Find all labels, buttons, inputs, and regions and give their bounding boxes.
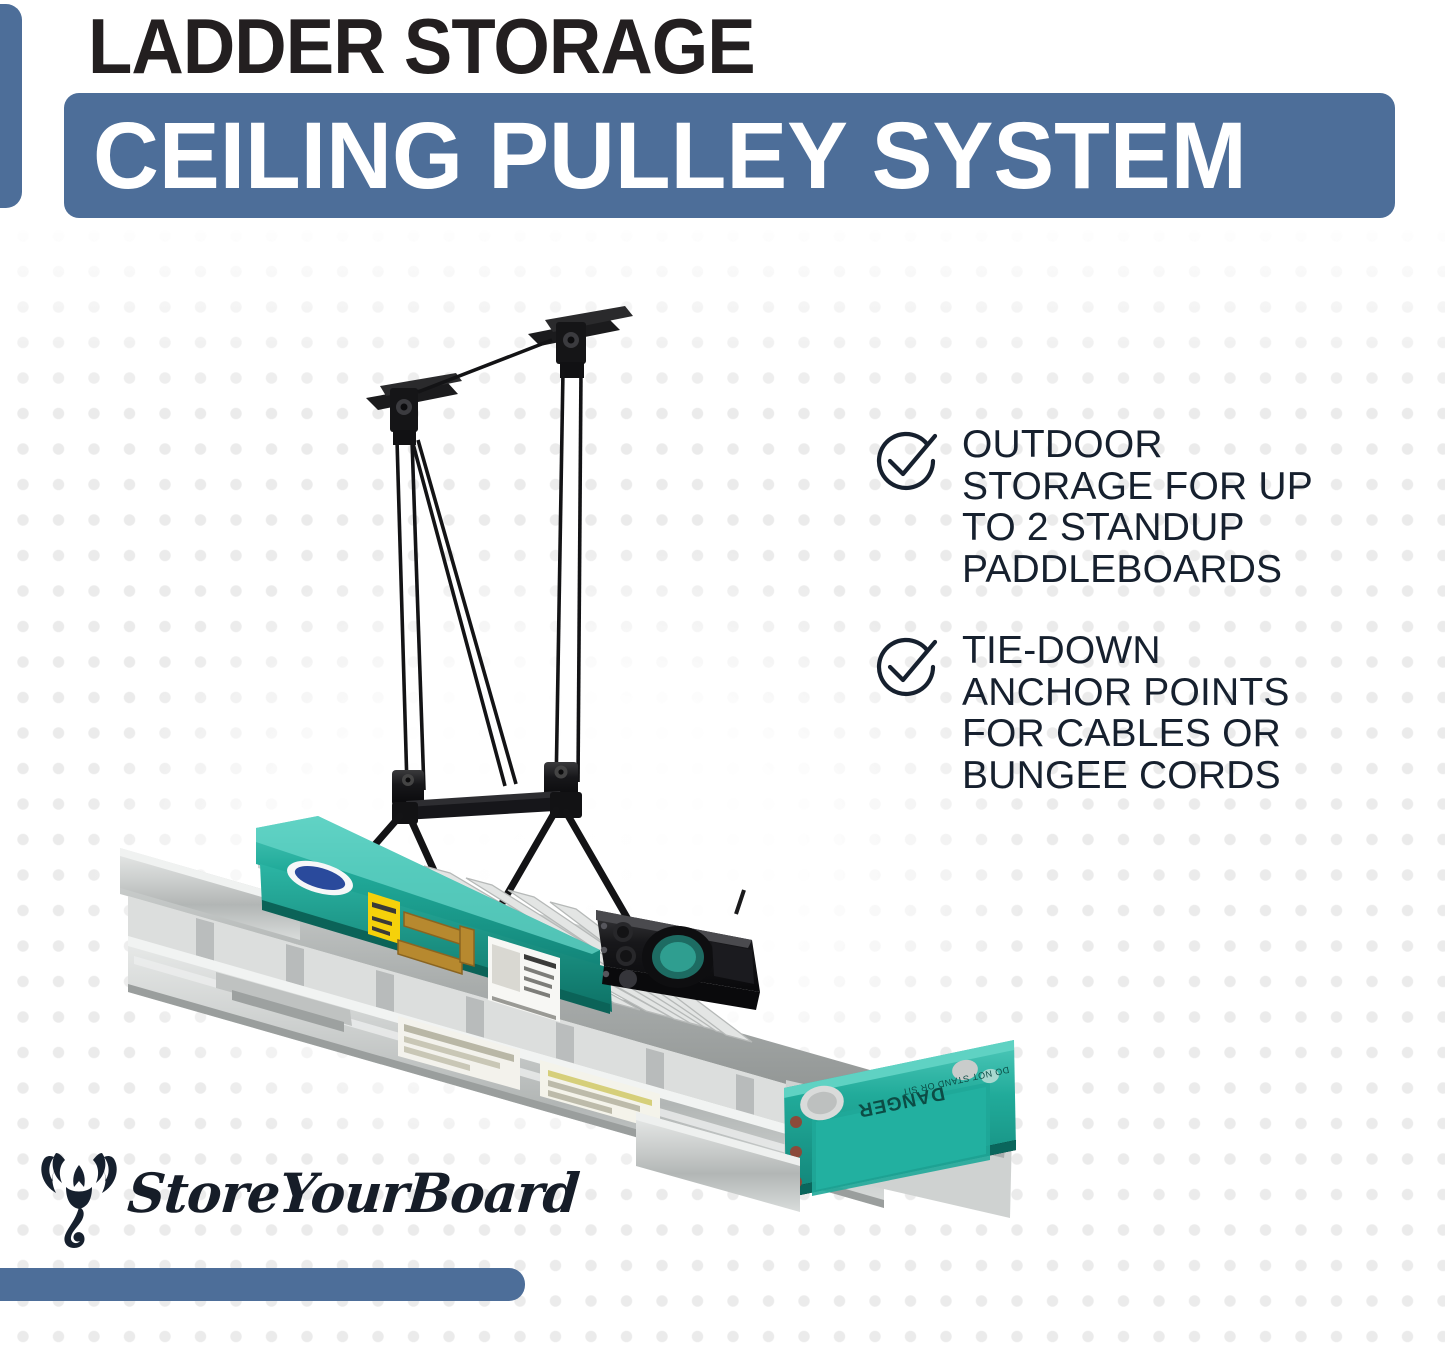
feature-list: OUTDOOR STORAGE FOR UP TO 2 STANDUP PADD…	[872, 424, 1372, 836]
pulley-ropes	[397, 340, 581, 790]
feature-label: TIE-DOWN ANCHOR POINTS FOR CABLES OR BUN…	[962, 630, 1372, 796]
brand-name: StoreYourBoard	[125, 1161, 581, 1225]
feature-label: OUTDOOR STORAGE FOR UP TO 2 STANDUP PADD…	[962, 424, 1372, 590]
circle-check-icon	[872, 634, 940, 702]
ceiling-pulley-left	[366, 373, 462, 445]
page-title-secondary: CEILING PULLEY SYSTEM	[93, 100, 1247, 212]
left-accent-bar	[0, 4, 22, 208]
page-title-primary: LADDER STORAGE	[88, 3, 755, 89]
feature-item: TIE-DOWN ANCHOR POINTS FOR CABLES OR BUN…	[872, 630, 1372, 796]
bottom-accent-bar	[0, 1268, 525, 1301]
product-infographic: LADDER STORAGE CEILING PULLEY SYSTEM	[0, 0, 1445, 1356]
feature-item: OUTDOOR STORAGE FOR UP TO 2 STANDUP PADD…	[872, 424, 1372, 590]
brand-logo: StoreYourBoard	[36, 1147, 556, 1257]
scorpion-mascot-icon	[36, 1147, 122, 1251]
header: LADDER STORAGE CEILING PULLEY SYSTEM	[0, 0, 1445, 222]
circle-check-icon	[872, 428, 940, 496]
